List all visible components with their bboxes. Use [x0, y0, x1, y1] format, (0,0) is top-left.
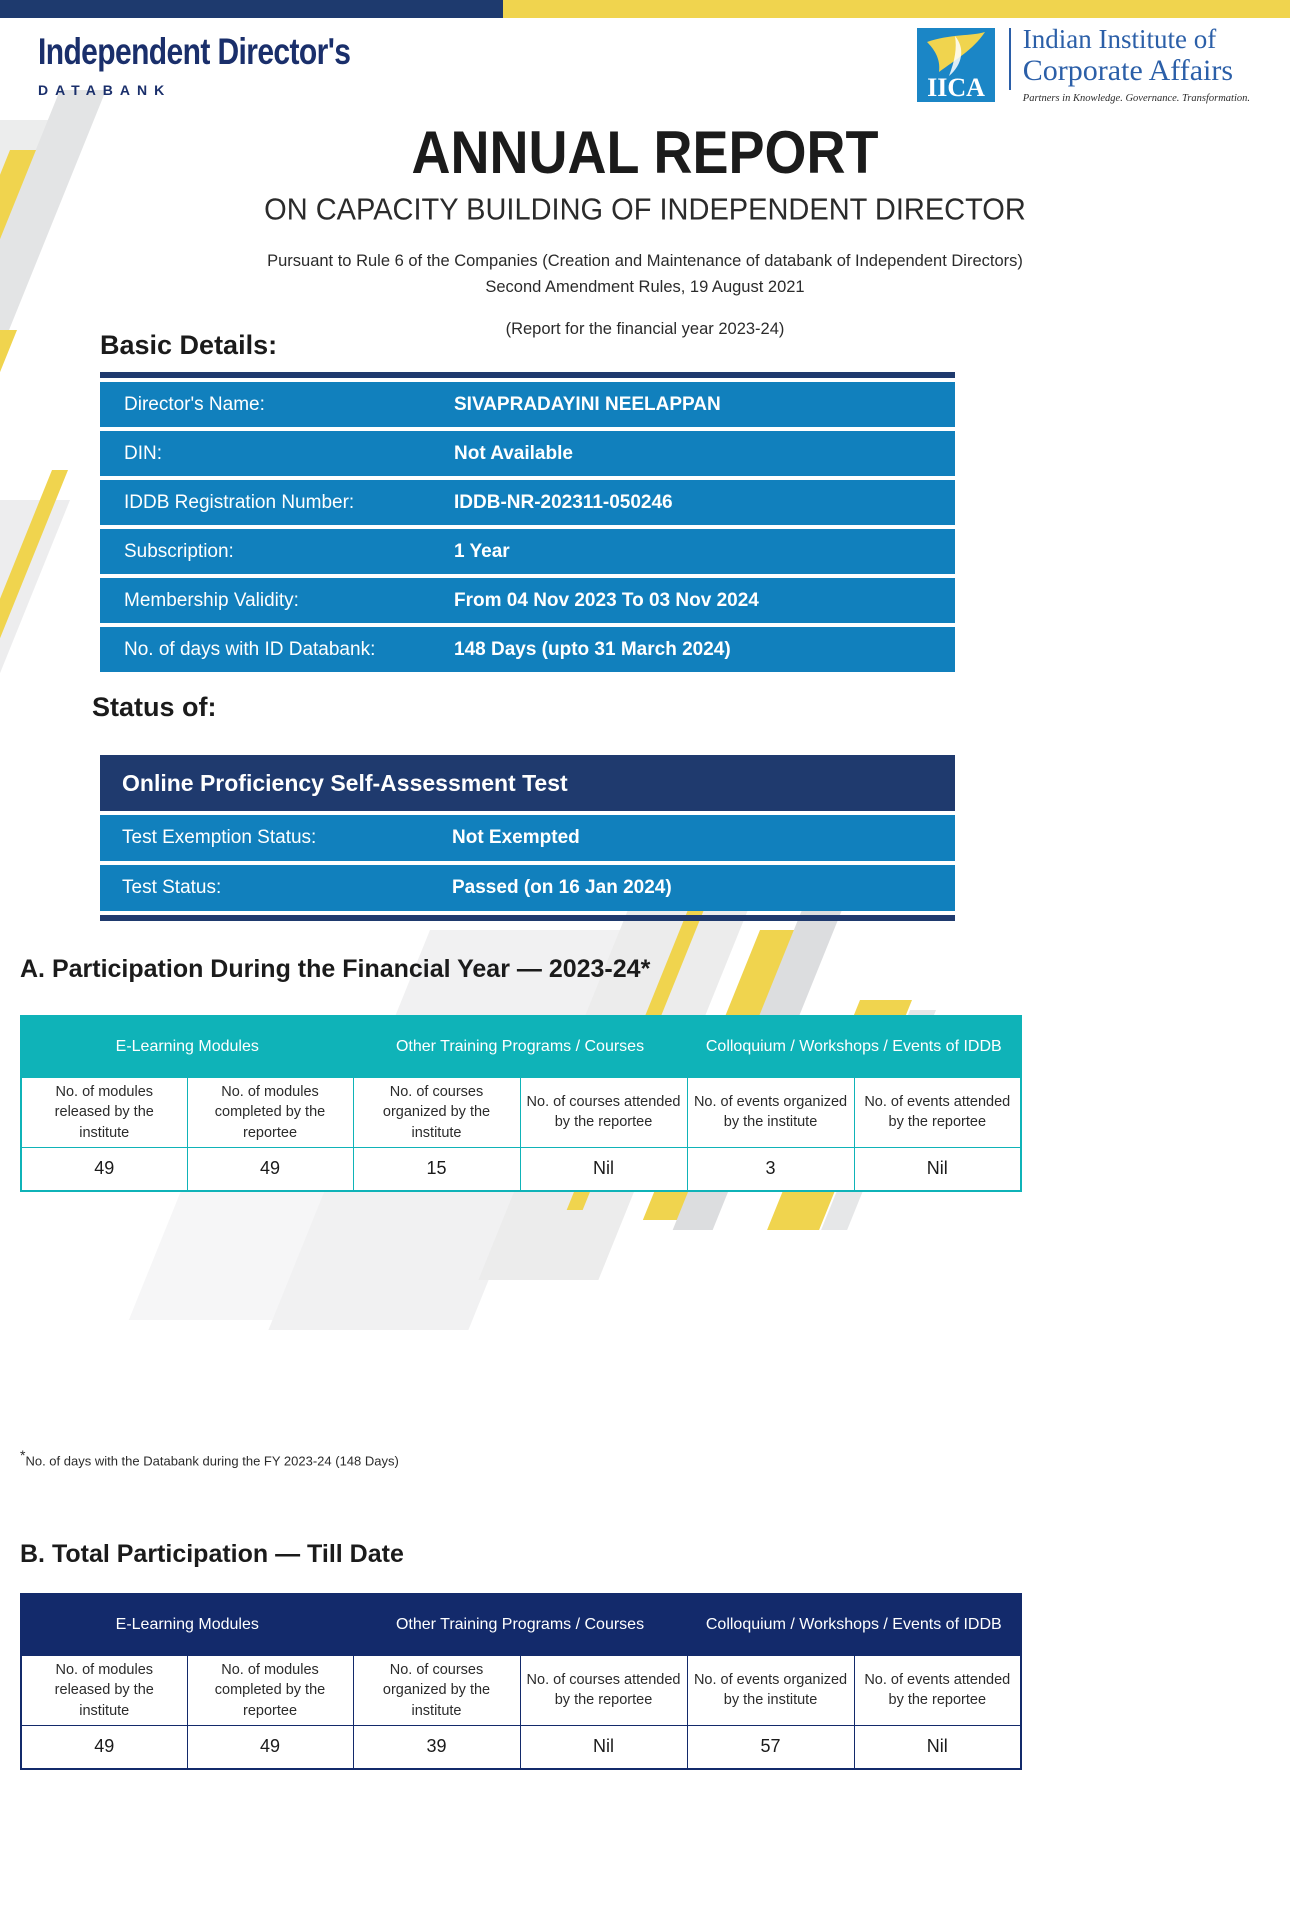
report-title-block: ANNUAL REPORT ON CAPACITY BUILDING OF IN…	[0, 118, 1290, 339]
top-bar-navy-segment	[0, 0, 503, 18]
table-row: Subscription: 1 Year	[100, 529, 955, 574]
top-bar-gold-segment	[503, 0, 1290, 18]
column-header-cell: No. of modules released by the institute	[21, 1078, 187, 1148]
decor-diagonal-gold-3	[0, 470, 68, 650]
top-color-bar	[0, 0, 1290, 18]
value-cell: Nil	[520, 1725, 687, 1769]
table-row: Membership Validity: From 04 Nov 2023 To…	[100, 578, 955, 623]
value-cell: 3	[687, 1147, 854, 1191]
table-row: 49 49 39 Nil 57 Nil	[21, 1725, 1021, 1769]
status-table-bottom-rule	[100, 915, 955, 921]
page-title: ANNUAL REPORT	[0, 118, 1290, 187]
table-group-header-row: E-Learning Modules Other Training Progra…	[21, 1016, 1021, 1078]
iica-logo: IICA Indian Institute of Corporate Affai…	[915, 26, 1250, 104]
iica-line1: Indian Institute of	[1023, 26, 1250, 53]
section-b-participation-table: E-Learning Modules Other Training Progra…	[20, 1593, 1022, 1770]
decor-diagonal-grey-3	[0, 500, 70, 920]
rule-reference-line2: Second Amendment Rules, 19 August 2021	[0, 275, 1290, 301]
column-header-cell: No. of events organized by the institute	[687, 1078, 854, 1148]
basic-row-value: SIVAPRADAYINI NEELAPPAN	[454, 394, 721, 416]
status-row-label: Test Exemption Status:	[100, 827, 452, 849]
table-subheader-row: No. of modules released by the institute…	[21, 1078, 1021, 1148]
section-a-footnote: *No. of days with the Databank during th…	[20, 1447, 399, 1468]
group-header-cell: Other Training Programs / Courses	[353, 1016, 687, 1078]
group-header-cell: Colloquium / Workshops / Events of IDDB	[687, 1594, 1021, 1656]
table-row: IDDB Registration Number: IDDB-NR-202311…	[100, 480, 955, 525]
basic-details-table: Director's Name: SIVAPRADAYINI NEELAPPAN…	[100, 372, 955, 672]
value-cell: 49	[187, 1725, 353, 1769]
value-cell: 39	[353, 1725, 520, 1769]
status-row-label: Test Status:	[100, 877, 452, 899]
group-header-cell: Other Training Programs / Courses	[353, 1594, 687, 1656]
basic-row-value: 1 Year	[454, 541, 510, 563]
iica-logo-divider	[1009, 28, 1011, 90]
status-heading: Status of:	[92, 692, 217, 723]
svg-text:IICA: IICA	[927, 73, 985, 102]
basic-details-heading: Basic Details:	[100, 330, 277, 361]
basic-row-value: IDDB-NR-202311-050246	[454, 492, 673, 514]
basic-row-value: 148 Days (upto 31 March 2024)	[454, 639, 731, 661]
basic-details-top-rule	[100, 372, 955, 378]
idd-logo-line2: DATABANK	[38, 82, 350, 98]
column-header-cell: No. of courses organized by the institut…	[353, 1656, 520, 1726]
status-row-value: Not Exempted	[452, 827, 580, 849]
basic-row-label: Subscription:	[100, 541, 454, 563]
section-a-participation-table: E-Learning Modules Other Training Progra…	[20, 1015, 1022, 1192]
group-header-cell: E-Learning Modules	[21, 1594, 353, 1656]
table-row: No. of days with ID Databank: 148 Days (…	[100, 627, 955, 672]
basic-row-label: DIN:	[100, 443, 454, 465]
column-header-cell: No. of modules completed by the reportee	[187, 1656, 353, 1726]
table-row: Test Exemption Status: Not Exempted	[100, 815, 955, 861]
value-cell: 49	[21, 1147, 187, 1191]
column-header-cell: No. of events organized by the institute	[687, 1656, 854, 1726]
basic-row-label: No. of days with ID Databank:	[100, 639, 454, 661]
table-row: Test Status: Passed (on 16 Jan 2024)	[100, 865, 955, 911]
value-cell: 49	[187, 1147, 353, 1191]
status-table: Online Proficiency Self-Assessment Test …	[100, 755, 955, 921]
independent-directors-databank-logo: Independent Director's DATABANK	[38, 34, 350, 98]
value-cell: 57	[687, 1725, 854, 1769]
basic-row-label: Membership Validity:	[100, 590, 454, 612]
group-header-cell: E-Learning Modules	[21, 1016, 353, 1078]
column-header-cell: No. of events attended by the reportee	[854, 1078, 1021, 1148]
value-cell: Nil	[854, 1725, 1021, 1769]
iica-emblem-icon: IICA	[915, 26, 997, 104]
basic-row-label: Director's Name:	[100, 394, 454, 416]
basic-row-value: From 04 Nov 2023 To 03 Nov 2024	[454, 590, 759, 612]
value-cell: Nil	[854, 1147, 1021, 1191]
header-logos: Independent Director's DATABANK IICA Ind…	[0, 22, 1290, 112]
status-row-value: Passed (on 16 Jan 2024)	[452, 877, 672, 899]
status-table-title: Online Proficiency Self-Assessment Test	[100, 755, 955, 811]
iica-tagline: Partners in Knowledge. Governance. Trans…	[1023, 93, 1250, 104]
footnote-text: No. of days with the Databank during the…	[25, 1453, 398, 1468]
value-cell: 15	[353, 1147, 520, 1191]
basic-row-value: Not Available	[454, 443, 573, 465]
iica-wordmark: Indian Institute of Corporate Affairs Pa…	[1023, 26, 1250, 104]
table-row: 49 49 15 Nil 3 Nil	[21, 1147, 1021, 1191]
rule-reference-text: Pursuant to Rule 6 of the Companies (Cre…	[0, 249, 1290, 300]
idd-logo-line1: Independent Director's	[38, 34, 350, 72]
table-group-header-row: E-Learning Modules Other Training Progra…	[21, 1594, 1021, 1656]
section-a-heading: A. Participation During the Financial Ye…	[20, 955, 650, 984]
decor-diagonal-gold-2	[0, 330, 17, 620]
page-subtitle: ON CAPACITY BUILDING OF INDEPENDENT DIRE…	[0, 193, 1290, 228]
column-header-cell: No. of courses attended by the reportee	[520, 1078, 687, 1148]
column-header-cell: No. of events attended by the reportee	[854, 1656, 1021, 1726]
table-row: Director's Name: SIVAPRADAYINI NEELAPPAN	[100, 382, 955, 427]
section-b-heading: B. Total Participation — Till Date	[20, 1540, 404, 1569]
basic-row-label: IDDB Registration Number:	[100, 492, 454, 514]
value-cell: 49	[21, 1725, 187, 1769]
iica-line2: Corporate Affairs	[1023, 56, 1250, 86]
table-subheader-row: No. of modules released by the institute…	[21, 1656, 1021, 1726]
column-header-cell: No. of modules completed by the reportee	[187, 1078, 353, 1148]
group-header-cell: Colloquium / Workshops / Events of IDDB	[687, 1016, 1021, 1078]
column-header-cell: No. of courses attended by the reportee	[520, 1656, 687, 1726]
column-header-cell: No. of modules released by the institute	[21, 1656, 187, 1726]
table-row: DIN: Not Available	[100, 431, 955, 476]
column-header-cell: No. of courses organized by the institut…	[353, 1078, 520, 1148]
rule-reference-line1: Pursuant to Rule 6 of the Companies (Cre…	[0, 249, 1290, 275]
value-cell: Nil	[520, 1147, 687, 1191]
